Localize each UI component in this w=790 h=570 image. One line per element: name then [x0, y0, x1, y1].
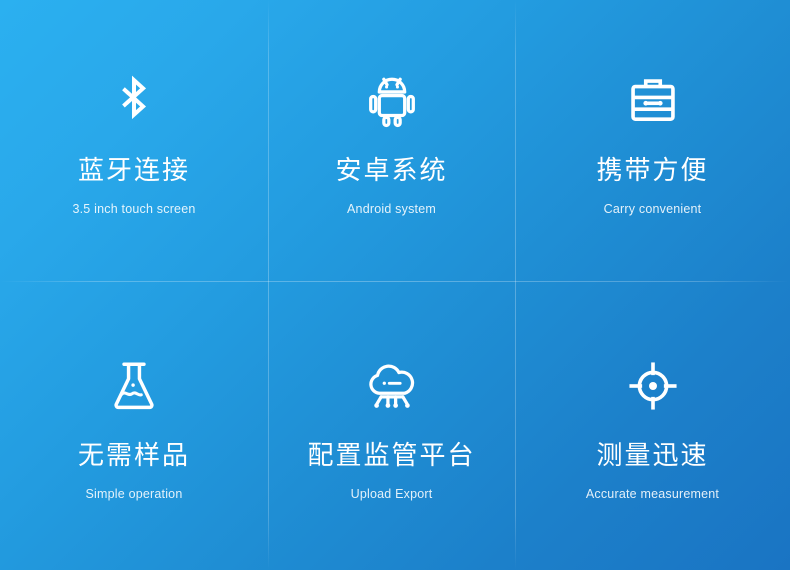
- feature-grid-banner: 蓝牙连接 3.5 inch touch screen: [0, 0, 790, 570]
- feature-cell-android[interactable]: 安卓系统 Android system: [268, 0, 515, 285]
- feature-subtitle: 3.5 inch touch screen: [72, 202, 195, 217]
- feature-subtitle: Carry convenient: [604, 202, 702, 217]
- feature-subtitle: Upload Export: [351, 487, 433, 502]
- feature-cell-cloud-platform[interactable]: 配置监管平台 Upload Export: [268, 285, 515, 570]
- feature-cell-measurement[interactable]: 测量迅速 Accurate measurement: [515, 285, 790, 570]
- feature-cell-bluetooth[interactable]: 蓝牙连接 3.5 inch touch screen: [0, 0, 268, 285]
- grid-divider-horizontal: [0, 281, 790, 282]
- feature-title: 蓝牙连接: [78, 156, 190, 185]
- feature-subtitle: Simple operation: [85, 487, 182, 502]
- toolbox-icon: [624, 72, 682, 130]
- feature-title: 测量迅速: [596, 441, 708, 470]
- grid-divider-vertical-right: [515, 0, 516, 570]
- android-robot-icon: [363, 72, 421, 130]
- feature-title: 无需样品: [78, 441, 190, 470]
- grid-divider-vertical-left: [268, 0, 269, 570]
- feature-grid: 蓝牙连接 3.5 inch touch screen: [0, 0, 790, 570]
- feature-cell-flask[interactable]: 无需样品 Simple operation: [0, 285, 268, 570]
- feature-cell-toolbox[interactable]: 携带方便 Carry convenient: [515, 0, 790, 285]
- feature-title: 安卓系统: [335, 156, 447, 185]
- feature-subtitle: Accurate measurement: [586, 487, 719, 502]
- feature-title: 配置监管平台: [307, 441, 475, 470]
- crosshair-target-icon: [624, 357, 682, 415]
- bluetooth-icon: [105, 72, 163, 130]
- feature-title: 携带方便: [596, 156, 708, 185]
- feature-subtitle: Android system: [347, 202, 436, 217]
- flask-icon: [105, 357, 163, 415]
- cloud-network-icon: [363, 357, 421, 415]
